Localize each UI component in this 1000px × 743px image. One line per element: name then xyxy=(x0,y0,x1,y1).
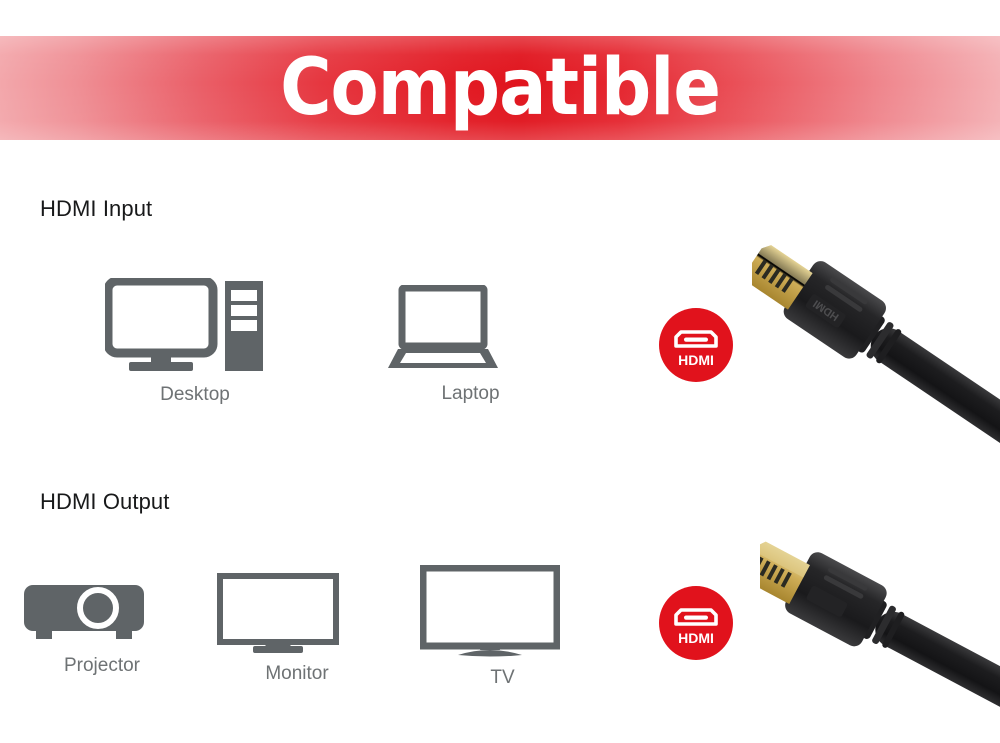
hdmi-cable-photo-input: HDMI xyxy=(752,224,1000,456)
hdmi-port-icon xyxy=(676,610,716,624)
compat-item-label: Projector xyxy=(22,655,182,677)
hdmi-badge-label: HDMI xyxy=(678,352,714,368)
hdmi-badge-input: HDMI xyxy=(659,308,733,382)
compat-item-label: Laptop xyxy=(388,383,553,405)
compat-item-label: TV xyxy=(420,667,585,689)
hdmi-badge-output: HDMI xyxy=(659,586,733,660)
compat-item-tv: TV xyxy=(420,565,585,689)
tv-icon xyxy=(420,565,585,657)
section-title-hdmi-output: HDMI Output xyxy=(40,489,169,515)
header-banner: Compatible xyxy=(0,36,1000,140)
compatibility-infographic: Compatible HDMI Input Desktop xyxy=(0,0,1000,743)
hdmi-cable-photo-output xyxy=(760,505,1000,743)
compat-item-label: Monitor xyxy=(217,663,377,685)
projector-icon xyxy=(22,583,182,645)
hdmi-port-icon xyxy=(676,332,716,346)
desktop-computer-icon xyxy=(105,278,285,374)
compat-item-laptop: Laptop xyxy=(388,285,553,405)
compat-item-label: Desktop xyxy=(105,384,285,406)
page-title: Compatible xyxy=(0,36,1000,140)
section-title-hdmi-input: HDMI Input xyxy=(40,196,152,222)
compat-item-desktop: Desktop xyxy=(105,278,285,406)
hdmi-badge-label: HDMI xyxy=(678,630,714,646)
compat-item-monitor: Monitor xyxy=(217,573,377,685)
compat-item-projector: Projector xyxy=(22,583,182,677)
monitor-icon xyxy=(217,573,377,653)
laptop-icon xyxy=(388,285,553,373)
